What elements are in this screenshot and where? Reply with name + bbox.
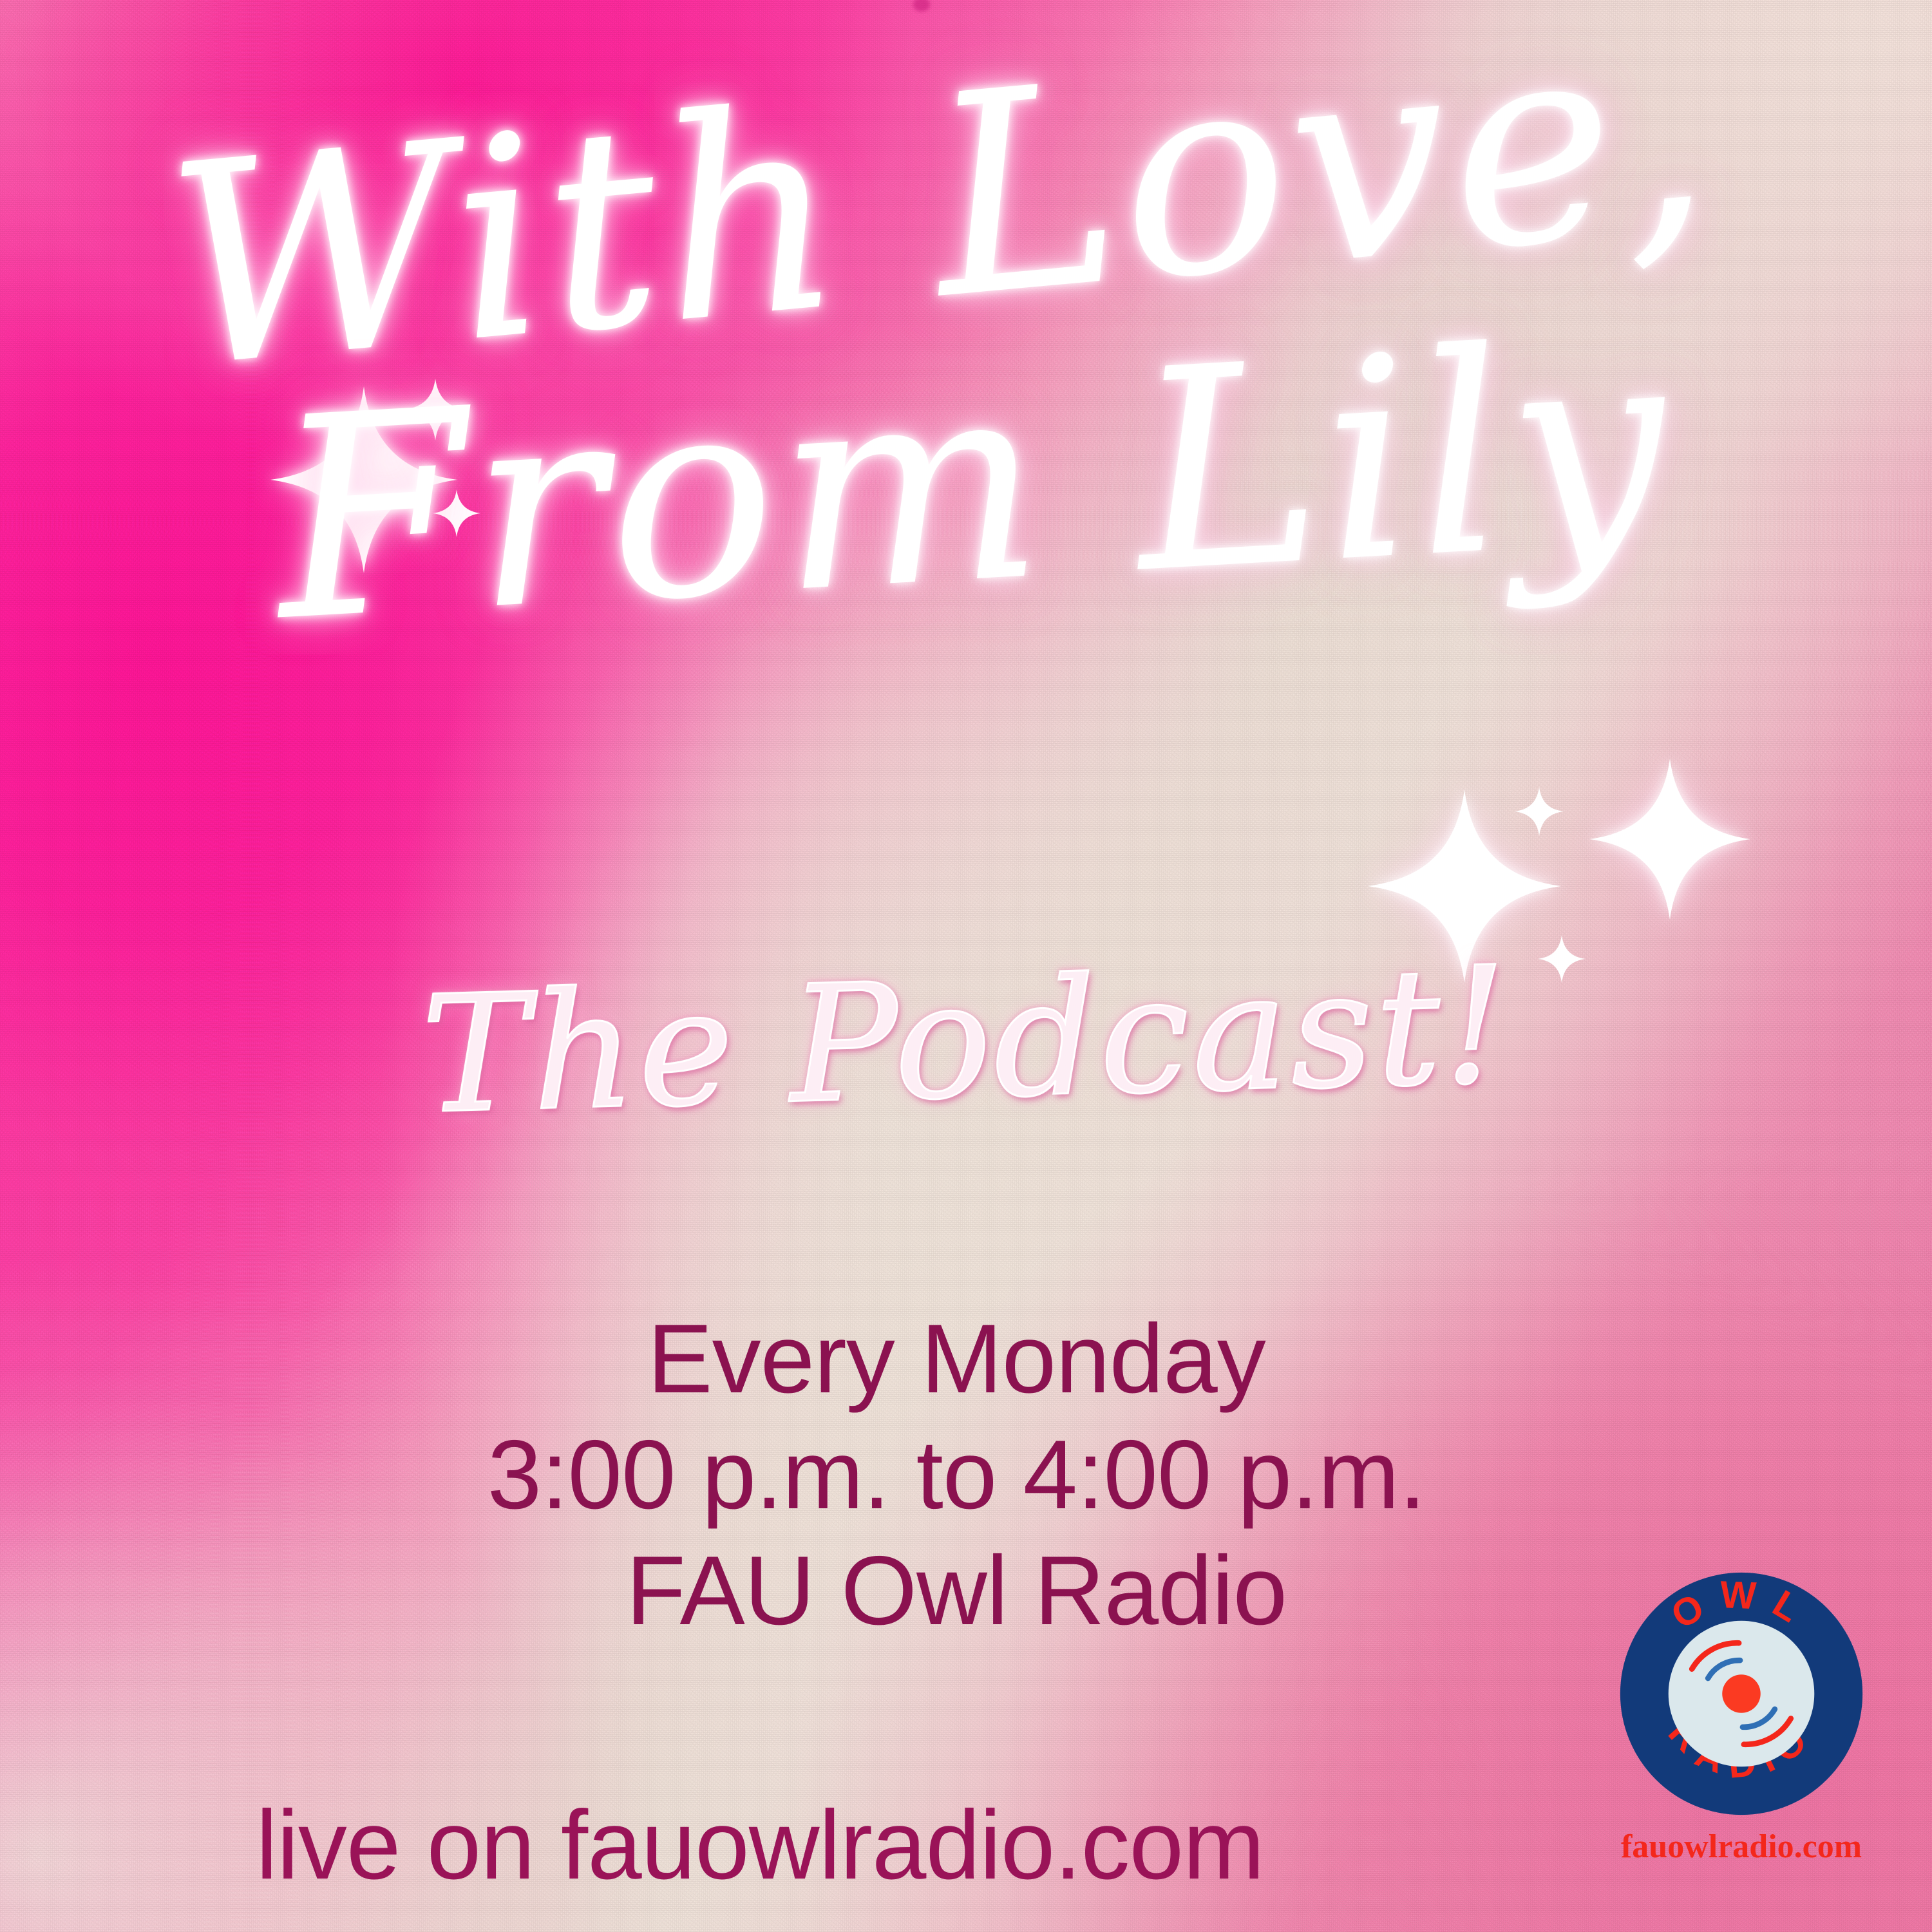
podcast-poster: With Love, From Lily The Podcast! Every …: [0, 0, 1932, 1932]
logo-url-text[interactable]: fauowlradio.com: [1606, 1828, 1877, 1866]
owl-radio-badge-icon: OWL RADIO: [1618, 1570, 1865, 1817]
sparkle-tiny-upper-left-icon: [433, 489, 480, 537]
sparkle-small-upper-left-icon: [404, 379, 466, 440]
sparkle-small-right-icon: [1515, 787, 1564, 836]
sparkle-large-far-right-icon: [1589, 759, 1750, 920]
schedule-day: Every Monday: [0, 1301, 1932, 1417]
live-stream-url-text[interactable]: live on fauowlradio.com: [0, 1790, 1520, 1900]
schedule-time: 3:00 p.m. to 4:00 p.m.: [0, 1417, 1932, 1533]
fau-owl-radio-logo[interactable]: OWL RADIO fauowlradio.com: [1606, 1570, 1877, 1892]
